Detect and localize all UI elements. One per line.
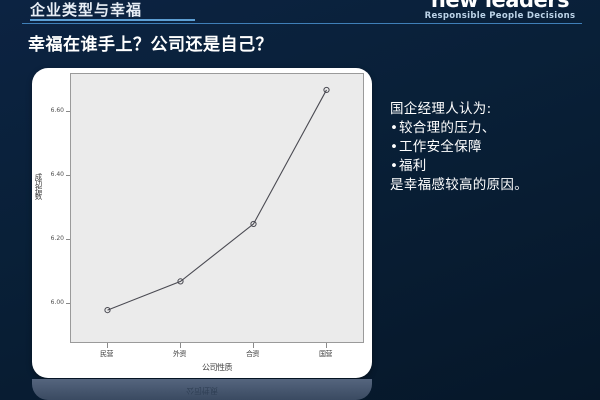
page-title: 企业类型与幸福 bbox=[30, 0, 142, 20]
series-markers bbox=[105, 87, 329, 312]
x-tick-mark bbox=[253, 343, 254, 348]
x-tick-label-国营: 国营 bbox=[303, 349, 349, 359]
insight-bullet-label: 福利 bbox=[399, 158, 427, 174]
x-tick-mark bbox=[107, 343, 108, 348]
insight-text-block: 国企经理人认为: •较合理的压力、 •工作安全保障 •福利 是幸福感较高的原因。 bbox=[390, 100, 595, 195]
x-tick-label-外资: 外资 bbox=[157, 349, 203, 359]
plot-area bbox=[70, 73, 364, 343]
bullet-marker: • bbox=[390, 119, 399, 138]
series-line-success-index bbox=[108, 90, 327, 310]
brand-logo: new leaders Responsible People Decisions bbox=[412, 0, 588, 22]
x-axis-title: 公司性质 bbox=[70, 362, 364, 373]
y-axis-title: 成功指数 bbox=[34, 173, 42, 233]
insight-conclusion: 是幸福感较高的原因。 bbox=[390, 176, 595, 195]
reflection-label: 公司性质 bbox=[32, 385, 372, 396]
x-tick-label-民营: 民营 bbox=[84, 349, 130, 359]
insight-bullet-label: 工作安全保障 bbox=[399, 139, 482, 155]
logo-tagline: Responsible People Decisions bbox=[412, 11, 588, 22]
insight-bullet-label: 较合理的压力、 bbox=[399, 120, 496, 136]
line-chart-svg bbox=[71, 74, 363, 342]
x-tick-mark bbox=[326, 343, 327, 348]
x-tick-mark bbox=[180, 343, 181, 348]
data-point-国营 bbox=[324, 87, 329, 92]
title-underline bbox=[30, 19, 195, 21]
y-tick-label: 6.60 bbox=[38, 107, 64, 114]
insight-bullet: •福利 bbox=[390, 157, 595, 176]
insight-bullet: •较合理的压力、 bbox=[390, 119, 595, 138]
header-divider bbox=[22, 23, 582, 24]
y-tick-label: 6.40 bbox=[38, 171, 64, 178]
page-subtitle: 幸福在谁手上？公司还是自己？ bbox=[28, 30, 273, 55]
card-reflection: 公司性质 bbox=[32, 379, 372, 400]
bullet-marker: • bbox=[390, 138, 399, 157]
chart-card: 成功指数 6.006.206.406.60 民营外资合资国营 公司性质 bbox=[32, 68, 372, 378]
bullet-marker: • bbox=[390, 157, 399, 176]
y-tick-label: 6.00 bbox=[38, 299, 64, 306]
x-tick-label-合资: 合资 bbox=[230, 349, 276, 359]
insight-lead: 国企经理人认为: bbox=[390, 100, 595, 119]
y-tick-label: 6.20 bbox=[38, 235, 64, 242]
slide-canvas: 企业类型与幸福 new leaders Responsible People D… bbox=[0, 0, 600, 400]
insight-bullet: •工作安全保障 bbox=[390, 138, 595, 157]
logo-wordmark: new leaders bbox=[412, 0, 588, 10]
